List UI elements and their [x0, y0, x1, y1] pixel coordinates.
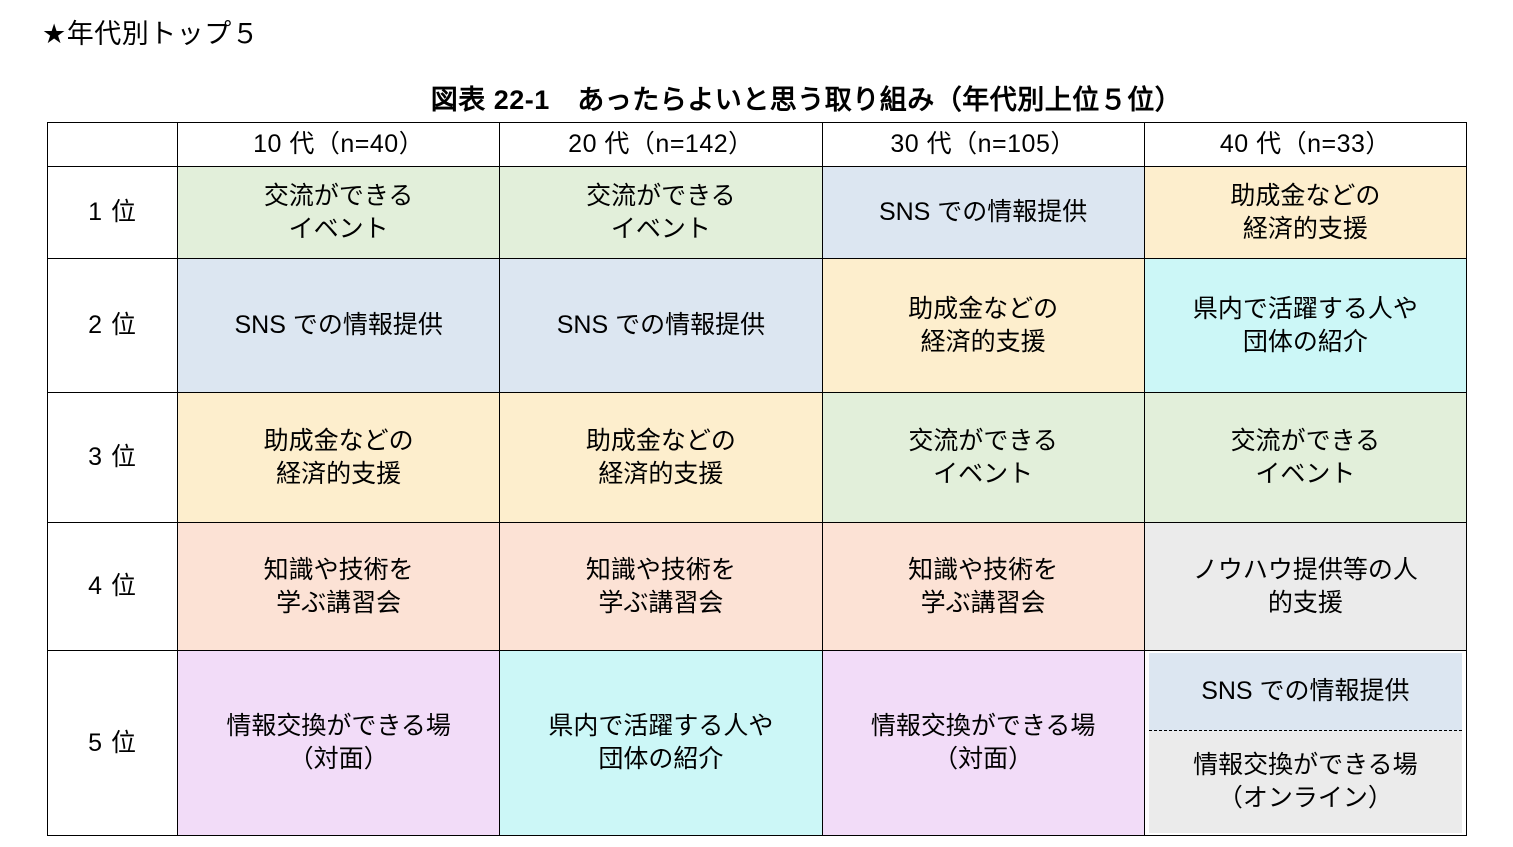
cell-text: 助成金などの 経済的支援 — [827, 293, 1140, 359]
cell-rank1-40s: 助成金などの 経済的支援 — [1144, 167, 1466, 259]
rank-label-5: 5 位 — [48, 651, 178, 836]
column-header-40s: 40 代（n=33） — [1144, 123, 1466, 167]
cell-text: 助成金などの 経済的支援 — [504, 425, 817, 491]
cell-text: 県内で活躍する人や 団体の紹介 — [504, 710, 817, 776]
table-row: 3 位 助成金などの 経済的支援 助成金などの 経済的支援 交流ができる イベン… — [48, 393, 1467, 523]
cell-text: 知識や技術を 学ぶ講習会 — [182, 554, 495, 620]
cell-rank5-40s-bottom: 情報交換ができる場 （オンライン） — [1149, 731, 1462, 833]
column-header-30s: 30 代（n=105） — [822, 123, 1144, 167]
ranking-table: 10 代（n=40） 20 代（n=142） 30 代（n=105） 40 代（… — [47, 122, 1467, 836]
cell-text: 県内で活躍する人や 団体の紹介 — [1149, 293, 1462, 359]
header-row: 10 代（n=40） 20 代（n=142） 30 代（n=105） 40 代（… — [48, 123, 1467, 167]
cell-rank5-30s: 情報交換ができる場 （対面） — [822, 651, 1144, 836]
cell-text: 知識や技術を 学ぶ講習会 — [504, 554, 817, 620]
cell-rank3-30s: 交流ができる イベント — [822, 393, 1144, 523]
cell-rank4-30s: 知識や技術を 学ぶ講習会 — [822, 523, 1144, 651]
cell-rank5-10s: 情報交換ができる場 （対面） — [178, 651, 500, 836]
rank-label-4: 4 位 — [48, 523, 178, 651]
cell-text: 情報交換ができる場 （オンライン） — [1193, 749, 1418, 815]
cell-rank3-40s: 交流ができる イベント — [1144, 393, 1466, 523]
table-row: 1 位 交流ができる イベント 交流ができる イベント SNS での情報提供 助… — [48, 167, 1467, 259]
cell-text: SNS での情報提供 — [827, 196, 1140, 229]
cell-rank2-10s: SNS での情報提供 — [178, 259, 500, 393]
rank-label-1: 1 位 — [48, 167, 178, 259]
cell-rank4-40s: ノウハウ提供等の人 的支援 — [1144, 523, 1466, 651]
column-header-10s: 10 代（n=40） — [178, 123, 500, 167]
cell-text: 助成金などの 経済的支援 — [182, 425, 495, 491]
split-cell-inner: SNS での情報提供 情報交換ができる場 （オンライン） — [1149, 653, 1462, 833]
table-head: 10 代（n=40） 20 代（n=142） 30 代（n=105） 40 代（… — [48, 123, 1467, 167]
cell-rank5-40s: SNS での情報提供 情報交換ができる場 （オンライン） — [1144, 651, 1466, 836]
table-row: 5 位 情報交換ができる場 （対面） 県内で活躍する人や 団体の紹介 情報交換が… — [48, 651, 1467, 836]
cell-rank1-20s: 交流ができる イベント — [500, 167, 822, 259]
cell-rank4-20s: 知識や技術を 学ぶ講習会 — [500, 523, 822, 651]
cell-rank3-10s: 助成金などの 経済的支援 — [178, 393, 500, 523]
cell-rank3-20s: 助成金などの 経済的支援 — [500, 393, 822, 523]
page-heading: ★年代別トップ５ — [42, 18, 259, 50]
cell-text: SNS での情報提供 — [182, 309, 495, 342]
cell-text: SNS での情報提供 — [1201, 675, 1409, 708]
cell-rank2-40s: 県内で活躍する人や 団体の紹介 — [1144, 259, 1466, 393]
cell-text: 交流ができる イベント — [182, 180, 495, 246]
cell-text: 助成金などの 経済的支援 — [1149, 180, 1462, 246]
cell-text: 知識や技術を 学ぶ講習会 — [827, 554, 1140, 620]
figure-title: 図表 22-1 あったらよいと思う取り組み（年代別上位５位） — [0, 78, 1513, 117]
table-row: 4 位 知識や技術を 学ぶ講習会 知識や技術を 学ぶ講習会 知識や技術を 学ぶ講… — [48, 523, 1467, 651]
cell-rank2-30s: 助成金などの 経済的支援 — [822, 259, 1144, 393]
table-row: 2 位 SNS での情報提供 SNS での情報提供 助成金などの 経済的支援 県… — [48, 259, 1467, 393]
cell-text: 交流ができる イベント — [504, 180, 817, 246]
cell-text: 交流ができる イベント — [1149, 425, 1462, 491]
page-root: ★年代別トップ５ 図表 22-1 あったらよいと思う取り組み（年代別上位５位） … — [0, 0, 1513, 847]
cell-text: 交流ができる イベント — [827, 425, 1140, 491]
cell-text: 情報交換ができる場 （対面） — [182, 710, 495, 776]
cell-rank5-40s-top: SNS での情報提供 — [1149, 653, 1462, 731]
corner-header — [48, 123, 178, 167]
cell-rank2-20s: SNS での情報提供 — [500, 259, 822, 393]
column-header-20s: 20 代（n=142） — [500, 123, 822, 167]
table-body: 1 位 交流ができる イベント 交流ができる イベント SNS での情報提供 助… — [48, 167, 1467, 836]
cell-rank1-30s: SNS での情報提供 — [822, 167, 1144, 259]
cell-text: SNS での情報提供 — [504, 309, 817, 342]
rank-label-2: 2 位 — [48, 259, 178, 393]
rank-label-3: 3 位 — [48, 393, 178, 523]
cell-text: ノウハウ提供等の人 的支援 — [1149, 554, 1462, 620]
cell-rank5-20s: 県内で活躍する人や 団体の紹介 — [500, 651, 822, 836]
cell-text: 情報交換ができる場 （対面） — [827, 710, 1140, 776]
cell-rank4-10s: 知識や技術を 学ぶ講習会 — [178, 523, 500, 651]
cell-rank1-10s: 交流ができる イベント — [178, 167, 500, 259]
ranking-table-container: 10 代（n=40） 20 代（n=142） 30 代（n=105） 40 代（… — [47, 122, 1467, 836]
